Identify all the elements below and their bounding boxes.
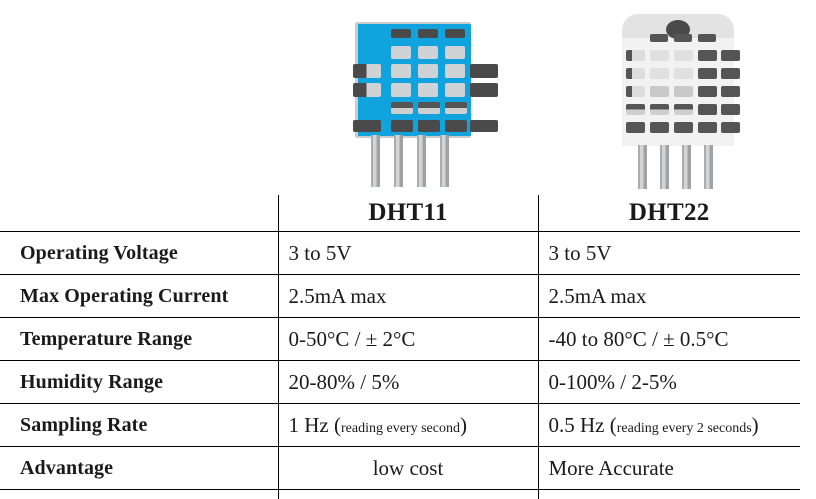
header-cell-dht22: DHT22 [538, 195, 800, 232]
cell-dht11-humidity-range: 20-80% / 5% [278, 361, 538, 404]
dht22-pin-1 [638, 145, 647, 189]
cell-dht22-humidity-range: 0-100% / 2-5% [538, 361, 800, 404]
cell-dht11-temperature-range: 0-50°C / ± 2°C [278, 318, 538, 361]
header-cell-dht11: DHT11 [278, 195, 538, 232]
cell-dht11-advantage: low cost [278, 447, 538, 490]
cell-dht11-partial [278, 490, 538, 499]
dht11-sensor-image [330, 0, 510, 195]
row-label-partial [0, 490, 278, 499]
dht22-pin-3 [682, 145, 691, 189]
sensor-image-strip [0, 0, 816, 195]
dht11-grille-grid [358, 24, 471, 136]
dht11-pin-3 [417, 135, 426, 187]
paren-close-dht22: ) [752, 413, 759, 437]
table-row: Max Operating Current 2.5mA max 2.5mA ma… [0, 275, 800, 318]
row-label-operating-voltage: Operating Voltage [0, 232, 278, 275]
table-row: Sampling Rate 1 Hz (reading every second… [0, 404, 800, 447]
paren-open-dht11: ( [334, 413, 341, 437]
table-header-row: DHT11 DHT22 [0, 195, 800, 232]
table-row: Humidity Range 20-80% / 5% 0-100% / 2-5% [0, 361, 800, 404]
dht11-pin-1 [371, 135, 380, 187]
sampling-rate-dht22-note: reading every 2 seconds [617, 421, 752, 436]
dht22-pin-2 [660, 145, 669, 189]
cell-dht22-sampling-rate: 0.5 Hz (reading every 2 seconds) [538, 404, 800, 447]
paren-open-dht22: ( [610, 413, 617, 437]
table-row-partial [0, 490, 800, 499]
dht22-grille-grid [622, 38, 734, 146]
cell-dht22-temperature-range: -40 to 80°C / ± 0.5°C [538, 318, 800, 361]
cell-dht22-advantage: More Accurate [538, 447, 800, 490]
dht11-pin-2 [394, 135, 403, 187]
dht22-sensor-image [600, 0, 770, 195]
table-row: Advantage low cost More Accurate [0, 447, 800, 490]
dht-comparison-table: DHT11 DHT22 Operating Voltage 3 to 5V 3 … [0, 195, 800, 499]
row-label-max-operating-current: Max Operating Current [0, 275, 278, 318]
paren-close-dht11: ) [460, 413, 467, 437]
header-cell-empty [0, 195, 278, 232]
cell-dht22-max-operating-current: 2.5mA max [538, 275, 800, 318]
row-label-temperature-range: Temperature Range [0, 318, 278, 361]
row-label-sampling-rate: Sampling Rate [0, 404, 278, 447]
cell-dht11-operating-voltage: 3 to 5V [278, 232, 538, 275]
dht11-pin-4 [440, 135, 449, 187]
sampling-rate-dht22-main: 0.5 Hz [549, 413, 610, 437]
table-row: Temperature Range 0-50°C / ± 2°C -40 to … [0, 318, 800, 361]
cell-dht11-sampling-rate: 1 Hz (reading every second) [278, 404, 538, 447]
cell-dht22-operating-voltage: 3 to 5V [538, 232, 800, 275]
cell-dht22-partial [538, 490, 800, 499]
sampling-rate-dht11-main: 1 Hz [289, 413, 335, 437]
sampling-rate-dht11-note: reading every second [341, 421, 460, 436]
cell-dht11-max-operating-current: 2.5mA max [278, 275, 538, 318]
dht22-pin-4 [704, 145, 713, 189]
row-label-humidity-range: Humidity Range [0, 361, 278, 404]
table-row: Operating Voltage 3 to 5V 3 to 5V [0, 232, 800, 275]
row-label-advantage: Advantage [0, 447, 278, 490]
